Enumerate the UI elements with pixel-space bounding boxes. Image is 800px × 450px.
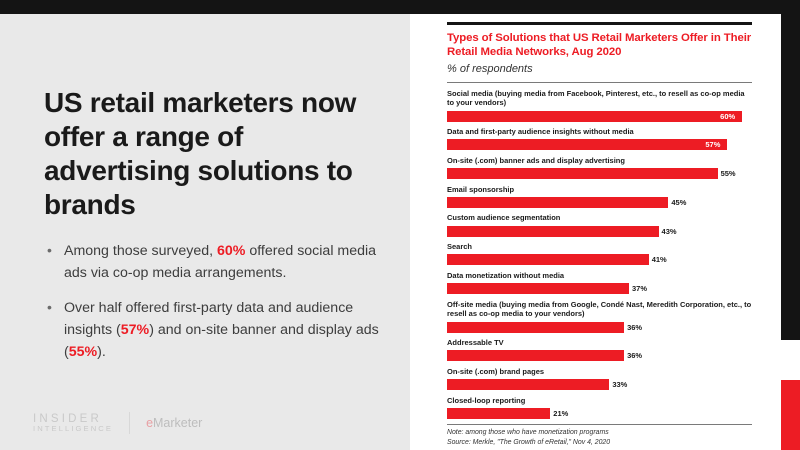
bar-chart: Social media (buying media from Facebook… <box>447 89 752 419</box>
bar-category-label: Social media (buying media from Facebook… <box>447 89 752 109</box>
bar-row: 57% <box>447 139 752 150</box>
bar-row: 45% <box>447 197 752 208</box>
bar-value-label: 45% <box>671 197 686 208</box>
bar-group: Custom audience segmentation43% <box>447 213 752 236</box>
bullet-highlight-1: 60% <box>217 243 245 259</box>
bar-category-label: Custom audience segmentation <box>447 213 752 223</box>
bar-row: 21% <box>447 408 752 419</box>
bar <box>447 139 727 150</box>
bar-group: Data monetization without media37% <box>447 271 752 294</box>
bar-value-label: 36% <box>627 350 642 361</box>
chart-subtitle: % of respondents <box>447 63 752 75</box>
insider-intelligence-logo: INSIDER INTELLIGENCE <box>33 413 113 433</box>
logo-divider <box>129 412 130 434</box>
chart-note: Note: among those who have monetization … <box>447 428 752 437</box>
bar-category-label: On-site (.com) brand pages <box>447 367 752 377</box>
bullet-dot-icon: • <box>47 297 52 319</box>
bar <box>447 111 742 122</box>
bullet-dot-icon: • <box>47 240 52 262</box>
bar-row: 37% <box>447 283 752 294</box>
brand-logos: INSIDER INTELLIGENCE eMarketer <box>33 412 202 434</box>
bar-value-label: 60% <box>720 111 735 122</box>
bar <box>447 254 649 265</box>
bar-category-label: On-site (.com) banner ads and display ad… <box>447 156 752 166</box>
chart-panel: Types of Solutions that US Retail Market… <box>447 22 752 450</box>
chart-rule-foot <box>447 424 752 425</box>
slide-root: US retail marketers now offer a range of… <box>0 0 800 450</box>
chart-rule-top <box>447 22 752 25</box>
right-decor-bar <box>781 0 800 340</box>
right-accent-bar <box>781 380 800 450</box>
bar-row: 55% <box>447 168 752 179</box>
list-item: •Over half offered first-party data and … <box>44 297 389 363</box>
bar-category-label: Search <box>447 242 752 252</box>
bar <box>447 408 550 419</box>
top-decor-bar <box>0 0 800 14</box>
bar-category-label: Closed-loop reporting <box>447 396 752 406</box>
bar-group: Search41% <box>447 242 752 265</box>
bar <box>447 379 609 390</box>
bar-row: 60% <box>447 111 752 122</box>
bar-group: Closed-loop reporting21% <box>447 396 752 419</box>
bar-row: 36% <box>447 350 752 361</box>
bullet-text-pre: Among those surveyed, <box>64 243 217 259</box>
bar-row: 36% <box>447 322 752 333</box>
bar-group: Off-site media (buying media from Google… <box>447 300 752 333</box>
bullet-text-post: ). <box>97 344 106 360</box>
bullet-highlight-2: 55% <box>69 344 97 360</box>
bar-category-label: Email sponsorship <box>447 185 752 195</box>
bar-value-label: 33% <box>612 379 627 390</box>
bar-category-label: Data monetization without media <box>447 271 752 281</box>
bar-group: Social media (buying media from Facebook… <box>447 89 752 122</box>
bar-value-label: 21% <box>553 408 568 419</box>
bullet-list: •Among those surveyed, 60% offered socia… <box>44 240 389 376</box>
chart-title: Types of Solutions that US Retail Market… <box>447 31 752 60</box>
bar-group: Data and first-party audience insights w… <box>447 127 752 150</box>
bar-value-label: 41% <box>652 254 667 265</box>
chart-source: Source: Merkle, "The Growth of eRetail,"… <box>447 438 752 447</box>
bar-group: On-site (.com) brand pages33% <box>447 367 752 390</box>
bar-value-label: 37% <box>632 283 647 294</box>
bar-group: Addressable TV36% <box>447 338 752 361</box>
bar-row: 33% <box>447 379 752 390</box>
bar-row: 41% <box>447 254 752 265</box>
chart-rule-mid <box>447 82 752 83</box>
emarketer-logo: eMarketer <box>146 416 202 430</box>
bar-category-label: Data and first-party audience insights w… <box>447 127 752 137</box>
bar-category-label: Addressable TV <box>447 338 752 348</box>
bar <box>447 322 624 333</box>
logo-line-intelligence: INTELLIGENCE <box>33 425 113 433</box>
bar-value-label: 57% <box>705 139 720 150</box>
emarketer-logo-rest: Marketer <box>153 416 202 430</box>
bar-row: 43% <box>447 226 752 237</box>
bar <box>447 197 668 208</box>
page-title: US retail marketers now offer a range of… <box>44 86 384 223</box>
bar <box>447 226 659 237</box>
list-item: •Among those surveyed, 60% offered socia… <box>44 240 389 284</box>
bar-group: Email sponsorship45% <box>447 185 752 208</box>
left-panel: US retail marketers now offer a range of… <box>0 14 410 450</box>
bar <box>447 168 718 179</box>
bar-value-label: 36% <box>627 322 642 333</box>
bar-value-label: 43% <box>662 226 677 237</box>
bar-value-label: 55% <box>721 168 736 179</box>
bar <box>447 283 629 294</box>
bar-group: On-site (.com) banner ads and display ad… <box>447 156 752 179</box>
emarketer-logo-e: e <box>146 416 153 430</box>
bar-category-label: Off-site media (buying media from Google… <box>447 300 752 320</box>
bar <box>447 350 624 361</box>
bullet-highlight-1: 57% <box>121 322 149 338</box>
